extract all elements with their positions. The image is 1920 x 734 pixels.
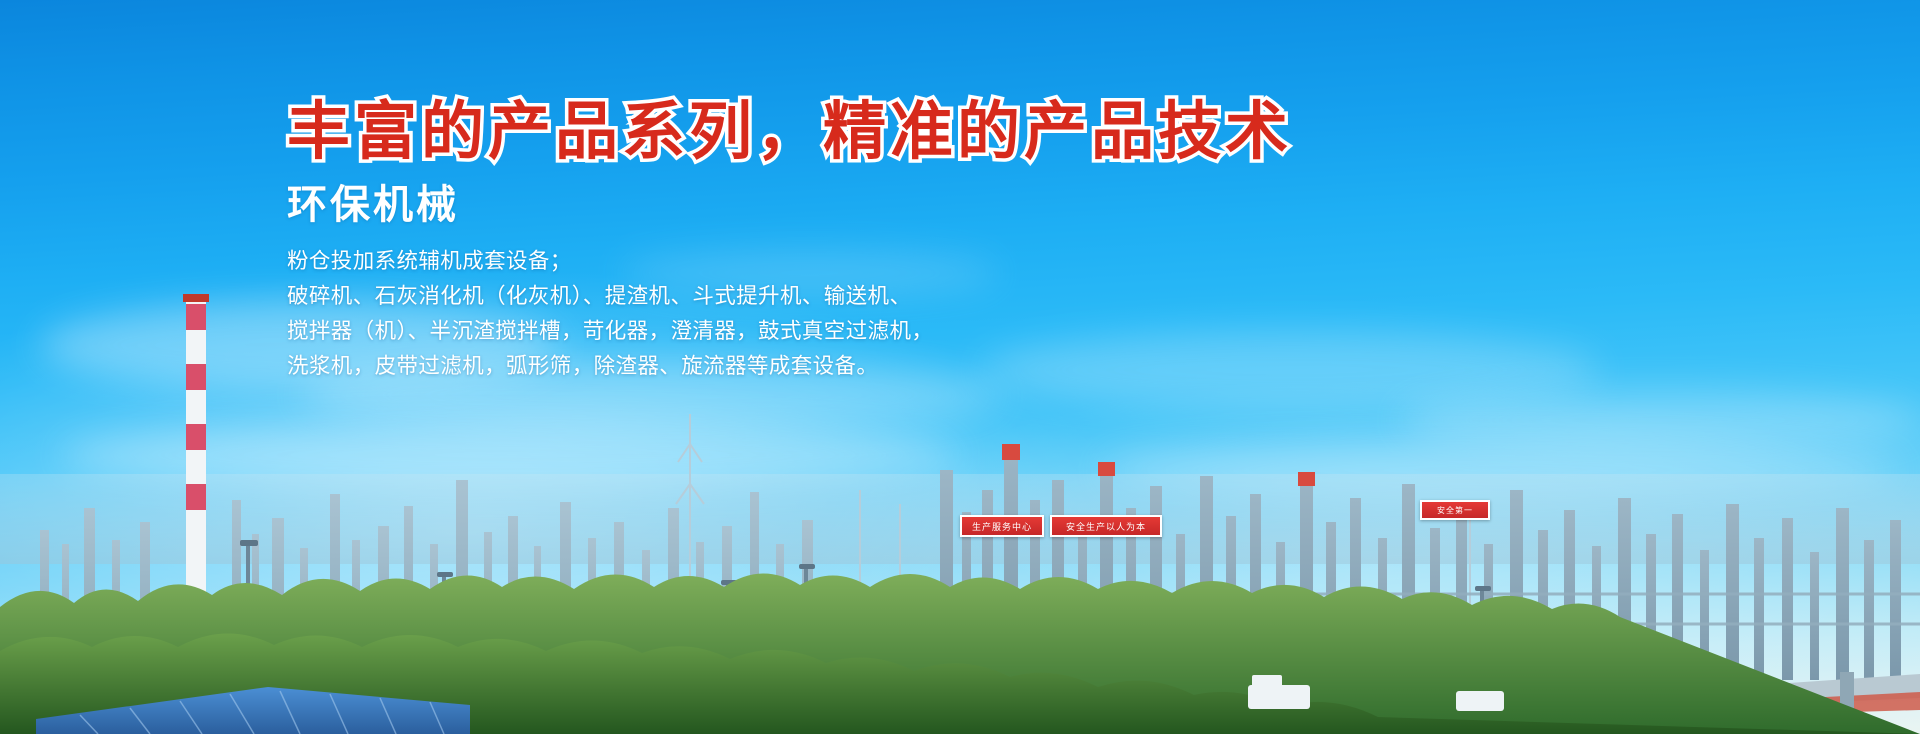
scene-sign-1: 生产服务中心 bbox=[960, 515, 1044, 537]
description-line: 破碎机、石灰消化机（化灰机）、提渣机、斗式提升机、输送机、 bbox=[287, 279, 1387, 314]
treeline-foreground bbox=[0, 519, 1920, 734]
description-line: 洗浆机，皮带过滤机，弧形筛，除渣器、旋流器等成套设备。 bbox=[287, 349, 1387, 384]
scene-sign-3: 安全第一 bbox=[1420, 500, 1490, 520]
description-line: 粉仓投加系统辅机成套设备； bbox=[287, 244, 1387, 279]
banner-description: 粉仓投加系统辅机成套设备； 破碎机、石灰消化机（化灰机）、提渣机、斗式提升机、输… bbox=[287, 244, 1387, 383]
scene-sign-2: 安全生产以人为本 bbox=[1050, 515, 1162, 537]
banner-subtitle: 环保机械 bbox=[287, 182, 1387, 228]
banner-headline: 丰富的产品系列，精准的产品技术 bbox=[287, 98, 1387, 166]
hero-banner: 生产服务中心 安全生产以人为本 安全第一 丰富的产品系列，精准的产品技术 环保机… bbox=[0, 0, 1920, 734]
description-line: 搅拌器（机）、半沉渣搅拌槽，苛化器，澄清器，鼓式真空过滤机， bbox=[287, 314, 1387, 349]
banner-text-block: 丰富的产品系列，精准的产品技术 环保机械 粉仓投加系统辅机成套设备； 破碎机、石… bbox=[287, 98, 1387, 383]
